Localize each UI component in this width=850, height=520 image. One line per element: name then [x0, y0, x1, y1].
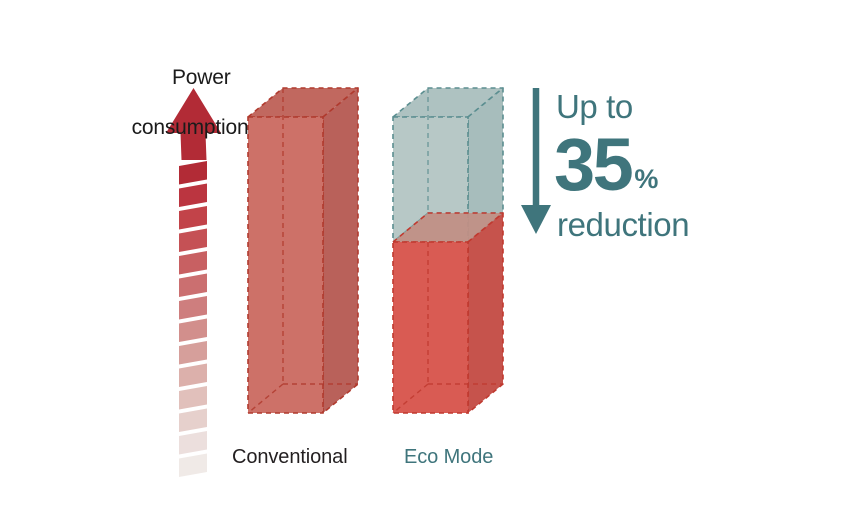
callout-number: 35	[554, 128, 631, 202]
downward-arrow	[521, 88, 551, 234]
eco-actual-volume	[393, 213, 503, 413]
axis-title-line2: consumption	[128, 115, 252, 140]
arrow-segment	[179, 409, 207, 433]
infographic-canvas: Power consumption Conventional Eco Mode …	[0, 0, 850, 520]
reduction-callout: Up to 35 % reduction	[556, 88, 826, 244]
arrow-segment	[179, 274, 207, 298]
bar-conventional	[248, 88, 358, 413]
arrow-segment	[179, 341, 207, 365]
callout-reduction-text: reduction	[557, 206, 826, 244]
arrow-segment	[179, 454, 207, 478]
arrow-segment	[179, 206, 207, 230]
axis-title: Power consumption	[128, 40, 252, 190]
arrow-segment	[179, 229, 207, 253]
arrow-segment	[179, 251, 207, 275]
callout-value-row: 35 %	[554, 128, 826, 202]
bar-label-eco-mode: Eco Mode	[404, 446, 493, 469]
arrow-segment	[179, 431, 207, 455]
arrow-segment	[179, 364, 207, 388]
bar-eco-mode	[393, 88, 503, 413]
bar-label-conventional: Conventional	[232, 446, 348, 469]
callout-up-to-text: Up to	[556, 88, 826, 126]
arrow-segment	[179, 386, 207, 410]
axis-title-line1: Power	[172, 66, 231, 89]
arrow-segment	[179, 319, 207, 343]
callout-percent-symbol: %	[634, 166, 658, 193]
arrow-segment	[179, 296, 207, 320]
